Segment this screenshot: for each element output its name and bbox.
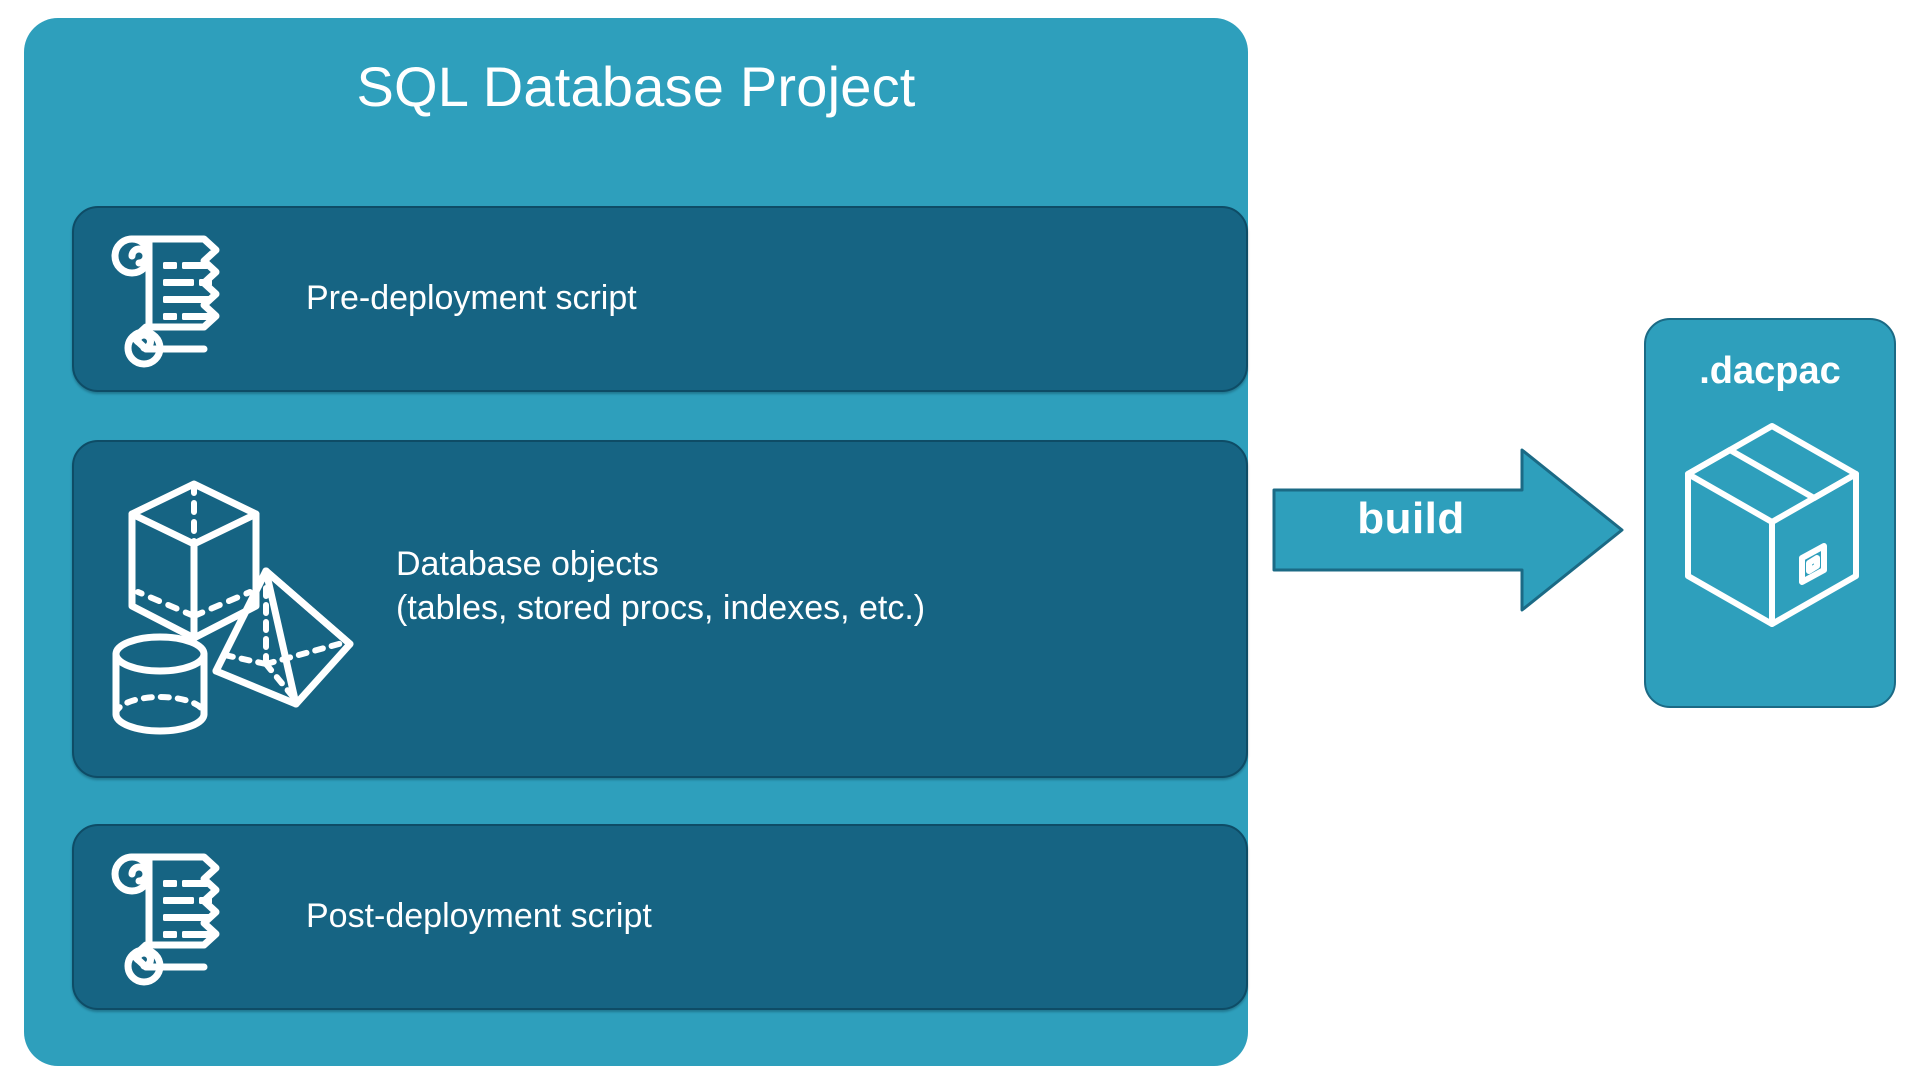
build-arrow: build (1272, 446, 1624, 614)
package-box-icon (1678, 416, 1866, 639)
sql-database-project-panel: SQL Database Project (24, 18, 1248, 1066)
card-label-post-deployment: Post-deployment script (306, 894, 652, 938)
project-title: SQL Database Project (24, 56, 1248, 118)
card-pre-deployment-script[interactable]: Pre-deployment script (72, 206, 1248, 392)
build-label: build (1272, 494, 1550, 544)
scroll-icon (108, 234, 238, 373)
shapes-icon (98, 466, 368, 761)
card-database-objects[interactable]: Database objects (tables, stored procs, … (72, 440, 1248, 778)
card-label-pre-deployment: Pre-deployment script (306, 276, 637, 320)
dacpac-title: .dacpac (1646, 350, 1894, 393)
scroll-icon (108, 852, 238, 991)
card-post-deployment-script[interactable]: Post-deployment script (72, 824, 1248, 1010)
card-label-database-objects: Database objects (tables, stored procs, … (396, 542, 925, 630)
dacpac-output-panel[interactable]: .dacpac (1644, 318, 1896, 708)
diagram-canvas: SQL Database Project (0, 0, 1920, 1080)
